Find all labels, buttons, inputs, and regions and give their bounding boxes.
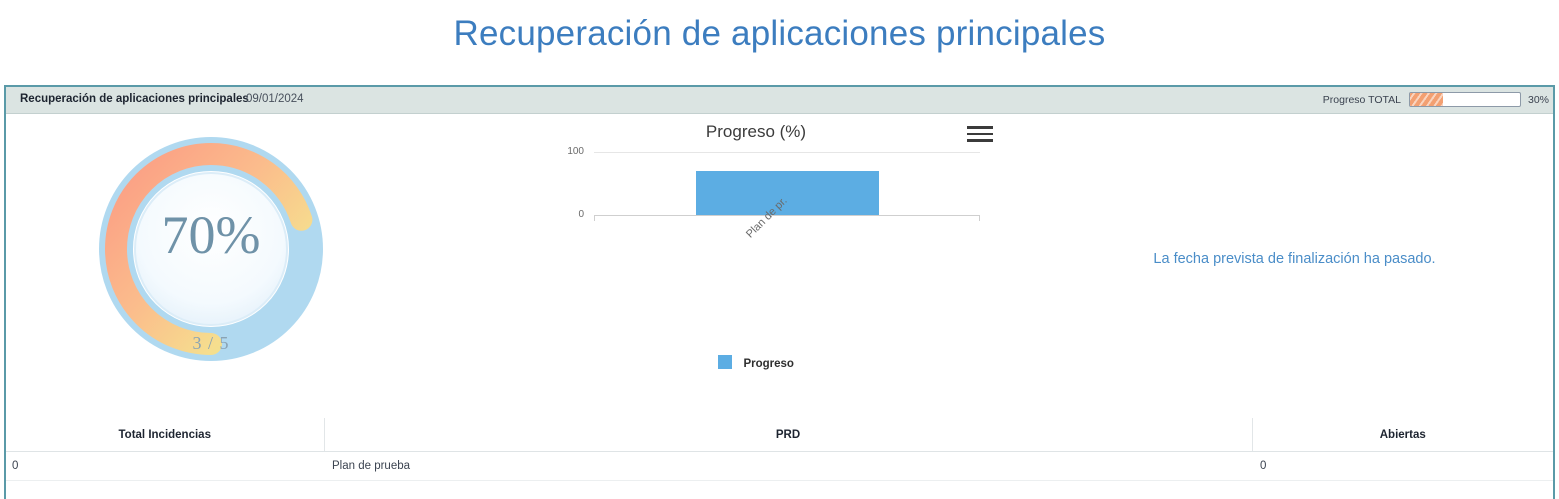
incidencias-table-wrapper: Total Incidencias PRD Abiertas 0 Plan de… [4, 418, 1555, 499]
gridline-100 [594, 152, 980, 153]
hamburger-menu-icon[interactable] [967, 126, 993, 148]
chart-plot-area: 100 0 Plan de pr. [536, 152, 996, 322]
progress-total-percent: 30% [1528, 94, 1549, 106]
tiempo-previsto-message: La fecha prevista de finalización ha pas… [1036, 251, 1553, 267]
incidencias-table: Total Incidencias PRD Abiertas 0 Plan de… [6, 418, 1553, 481]
legend-label-progreso: Progreso [743, 358, 794, 370]
table-row[interactable]: 0 Plan de prueba 0 [6, 452, 1553, 481]
y-axis-tick-100: 100 [550, 146, 584, 157]
chart-legend[interactable]: Progreso [536, 354, 976, 372]
gauge-value: 70% [98, 204, 324, 266]
table-header-abiertas[interactable]: Abiertas [1252, 418, 1553, 452]
cell-abiertas: 0 [1252, 452, 1553, 481]
cell-prd: Plan de prueba [324, 452, 1252, 481]
dashboard-screenshot: Recuperación de aplicaciones principales… [0, 0, 1559, 499]
page-title: Recuperación de aplicaciones principales [0, 14, 1559, 54]
table-empty-space [6, 481, 1553, 499]
progress-total-fill [1410, 93, 1443, 106]
table-header-prd[interactable]: PRD [324, 418, 1252, 452]
cell-total-incidencias: 0 [6, 452, 324, 481]
progress-total-label: Progreso TOTAL [1323, 94, 1401, 106]
chart-title: Progreso (%) [536, 122, 976, 142]
panel-header: Recuperación de aplicaciones principales… [6, 87, 1553, 114]
legend-swatch-progreso [718, 355, 732, 369]
bar-progreso[interactable] [696, 171, 879, 215]
table-header-row: Total Incidencias PRD Abiertas [6, 418, 1553, 452]
panel-header-date: 09/01/2024 [246, 93, 304, 105]
y-axis-tick-0: 0 [550, 209, 584, 220]
axis-tick-left [594, 215, 595, 221]
axis-tick-right [979, 215, 980, 221]
table-header-total-incidencias[interactable]: Total Incidencias [6, 418, 324, 452]
x-axis-baseline [594, 215, 980, 216]
progress-total-bar [1409, 92, 1521, 107]
gauge-subvalue: 3 / 5 [98, 333, 324, 354]
panel-header-title: Recuperación de aplicaciones principales [20, 93, 249, 105]
progress-gauge: 70% 3 / 5 [98, 136, 324, 362]
